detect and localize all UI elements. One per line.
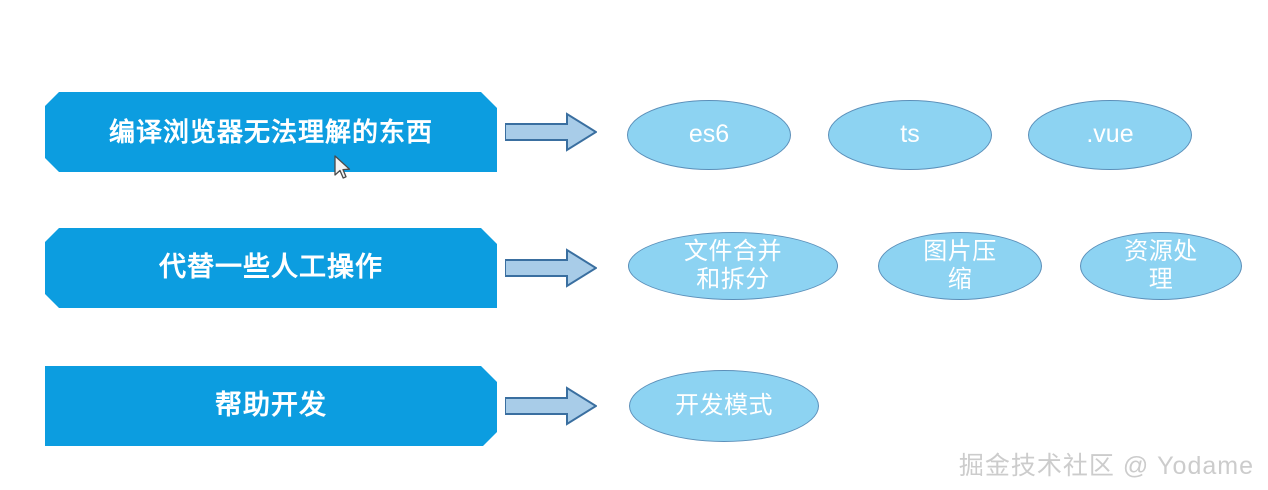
node-ellipse[interactable]: 文件合并 和拆分: [628, 232, 838, 300]
banner-shape-help-dev[interactable]: 帮助开发: [45, 366, 497, 446]
banner-shape-replace-manual[interactable]: 代替一些人工操作: [45, 228, 497, 308]
banner-label: 帮助开发: [215, 391, 327, 421]
banner-label: 代替一些人工操作: [159, 253, 383, 283]
node-ellipse[interactable]: es6: [627, 100, 791, 170]
node-label: 资源处 理: [1124, 238, 1198, 295]
watermark-text: 掘金技术社区 @ Yodame: [959, 446, 1254, 482]
node-ellipse[interactable]: 开发模式: [629, 370, 819, 442]
node-label: es6: [689, 120, 729, 150]
node-label: 图片压 缩: [923, 238, 997, 295]
node-ellipse[interactable]: ts: [828, 100, 992, 170]
node-label: 文件合并 和拆分: [684, 238, 782, 295]
flow-arrow-icon: [505, 386, 597, 426]
flow-row: 代替一些人工操作 文件合并 和拆分 图片压 缩 资源处 理: [0, 228, 1268, 310]
flow-arrow-icon: [505, 112, 597, 152]
flow-row: 帮助开发 开发模式: [0, 366, 1268, 448]
node-ellipse[interactable]: 图片压 缩: [878, 232, 1042, 300]
node-label: ts: [900, 120, 919, 150]
node-label: 开发模式: [675, 392, 773, 420]
flow-row: 编译浏览器无法理解的东西 es6 ts .vue: [0, 92, 1268, 174]
diagram-canvas: 编译浏览器无法理解的东西 es6 ts .vue 代替一些人工操作 文件合并 和…: [0, 0, 1268, 490]
banner-shape-compile[interactable]: 编译浏览器无法理解的东西: [45, 92, 497, 172]
node-label: .vue: [1086, 120, 1133, 150]
node-ellipse[interactable]: 资源处 理: [1080, 232, 1242, 300]
banner-label: 编译浏览器无法理解的东西: [109, 118, 433, 147]
node-ellipse[interactable]: .vue: [1028, 100, 1192, 170]
flow-arrow-icon: [505, 248, 597, 288]
